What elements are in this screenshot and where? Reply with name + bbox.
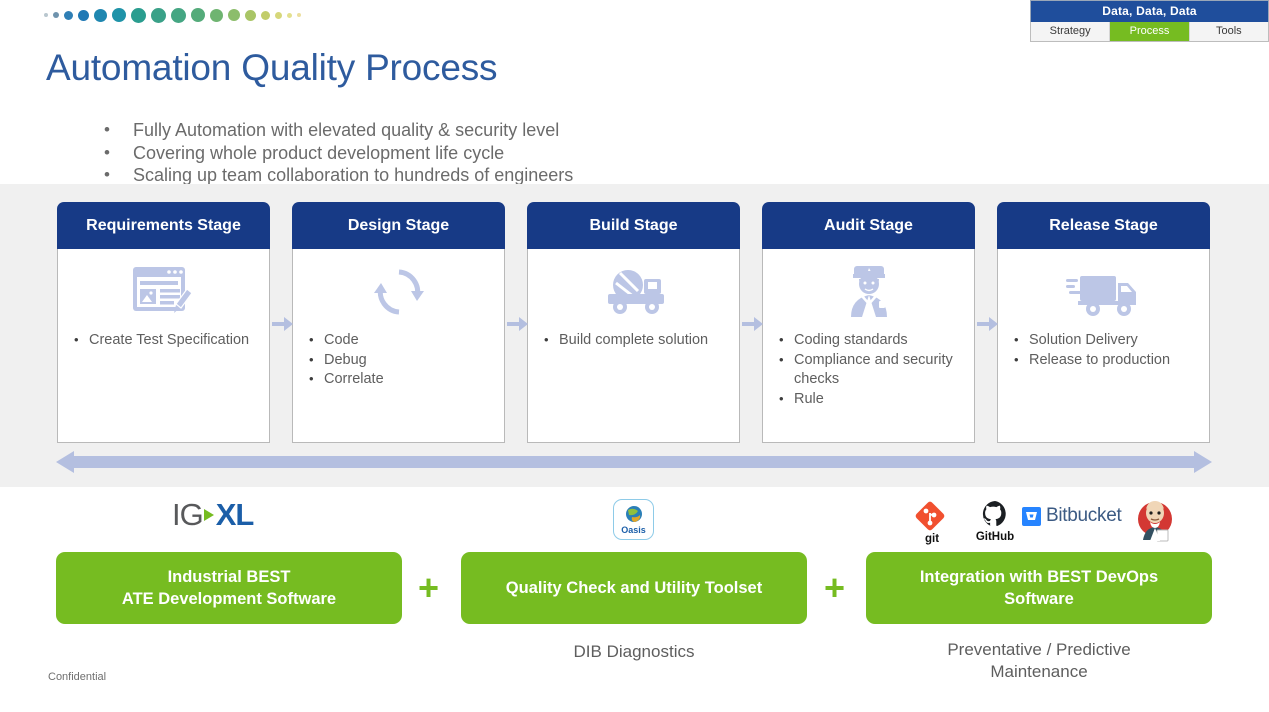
stage-card-body: Build complete solution xyxy=(527,249,740,443)
stage-card-items: Coding standards Compliance and security… xyxy=(763,331,974,409)
stage-card-audit[interactable]: Audit Stage Coding standards Compliance … xyxy=(762,202,975,443)
offering-box-line1: Integration with BEST DevOps xyxy=(920,566,1158,588)
stage-card-item: Build complete solution xyxy=(542,331,731,351)
stage-card-item: Debug xyxy=(307,351,496,371)
decorative-dot xyxy=(44,13,48,17)
stage-card-title: Release Stage xyxy=(997,202,1210,249)
bitbucket-icon xyxy=(1022,507,1041,526)
header-bullet-list: Fully Automation with elevated quality &… xyxy=(58,120,778,188)
stage-card-item: Rule xyxy=(777,390,966,410)
decorative-dot xyxy=(64,11,73,20)
offering-box-line2: ATE Development Software xyxy=(122,588,336,610)
decorative-dot xyxy=(171,8,186,23)
stage-card-item: Release to production xyxy=(1012,351,1201,371)
stage-card-body: Coding standards Compliance and security… xyxy=(762,249,975,443)
stage-card-title: Design Stage xyxy=(292,202,505,249)
bitbucket-logo: Bitbucket xyxy=(1022,505,1121,527)
delivery-truck-icon xyxy=(998,249,1209,327)
tab-tools[interactable]: Tools xyxy=(1190,22,1268,41)
stage-card-items: Solution Delivery Release to production xyxy=(998,331,1209,370)
oasis-logo-label: Oasis xyxy=(621,526,646,535)
stage-card-build[interactable]: Build Stage Build complete solution xyxy=(527,202,740,443)
decorative-dot xyxy=(228,9,240,21)
offering-box-industrial-best[interactable]: Industrial BEST ATE Development Software xyxy=(56,552,402,624)
stage-card-item: Code xyxy=(307,331,496,351)
stage-connector-arrow-icon xyxy=(742,316,764,332)
confidential-label: Confidential xyxy=(48,671,106,683)
tab-process[interactable]: Process xyxy=(1110,22,1189,41)
stage-connector-arrow-icon xyxy=(507,316,529,332)
decorative-dot xyxy=(78,10,89,21)
stage-card-title: Build Stage xyxy=(527,202,740,249)
decorative-dot xyxy=(131,8,146,23)
git-logo: git xyxy=(910,500,954,545)
document-edit-icon xyxy=(58,249,269,327)
refresh-cycle-icon xyxy=(293,249,504,327)
stage-card-requirements[interactable]: Requirements Stage Create Test Specifica… xyxy=(57,202,270,443)
decorative-dot xyxy=(261,11,270,20)
nav-tabs: Strategy Process Tools xyxy=(1030,22,1269,42)
top-nav-widget: Data, Data, Data Strategy Process Tools xyxy=(1030,0,1269,42)
decorative-dots-strip xyxy=(44,6,306,24)
cement-mixer-truck-icon xyxy=(528,249,739,327)
stage-card-items: Build complete solution xyxy=(528,331,739,351)
stage-card-title: Audit Stage xyxy=(762,202,975,249)
stage-card-item: Correlate xyxy=(307,370,496,390)
bidirectional-flow-arrow xyxy=(56,450,1212,474)
decorative-dot xyxy=(53,12,59,18)
offering-caption-dib: DIB Diagnostics xyxy=(461,641,807,663)
github-icon xyxy=(981,500,1009,528)
igxl-logo-xl: XL xyxy=(216,497,254,532)
offering-box-line1: Quality Check and Utility Toolset xyxy=(506,577,762,599)
offering-caption-line1: Preventative / Predictive xyxy=(866,639,1212,661)
igxl-logo-ig: IG xyxy=(172,497,203,532)
github-logo-label: GitHub xyxy=(972,531,1018,543)
stage-card-items: Code Debug Correlate xyxy=(293,331,504,390)
offering-box-devops-integration[interactable]: Integration with BEST DevOps Software xyxy=(866,552,1212,624)
jenkins-logo xyxy=(1133,498,1177,547)
page-title: Automation Quality Process xyxy=(46,47,497,89)
decorative-dot xyxy=(210,9,223,22)
stage-card-body: Create Test Specification xyxy=(57,249,270,443)
github-logo: GitHub xyxy=(972,500,1018,543)
decorative-dot xyxy=(245,10,256,21)
decorative-dot xyxy=(297,13,301,17)
header-bullet: Fully Automation with elevated quality &… xyxy=(98,120,778,142)
plus-separator-1: + xyxy=(418,570,439,606)
decorative-dot xyxy=(287,13,292,18)
stage-card-release[interactable]: Release Stage Solution Delivery Release … xyxy=(997,202,1210,443)
stage-connector-arrow-icon xyxy=(272,316,294,332)
nav-title: Data, Data, Data xyxy=(1030,0,1269,22)
stage-card-item: Solution Delivery xyxy=(1012,331,1201,351)
oasis-logo: Oasis xyxy=(613,499,654,540)
stage-card-title: Requirements Stage xyxy=(57,202,270,249)
stage-card-body: Solution Delivery Release to production xyxy=(997,249,1210,443)
offering-caption-line1: DIB Diagnostics xyxy=(461,641,807,663)
git-logo-label: git xyxy=(910,533,954,545)
jenkins-butler-icon xyxy=(1133,498,1177,542)
offering-box-quality-check[interactable]: Quality Check and Utility Toolset xyxy=(461,552,807,624)
offering-box-line1: Industrial BEST xyxy=(122,566,336,588)
bitbucket-logo-label: Bitbucket xyxy=(1046,505,1121,527)
header-bullet: Covering whole product development life … xyxy=(98,143,778,165)
offering-caption-line2: Maintenance xyxy=(866,661,1212,683)
stage-card-items: Create Test Specification xyxy=(58,331,269,351)
decorative-dot xyxy=(151,8,166,23)
igxl-logo: IGXL xyxy=(172,497,253,533)
stage-card-item: Coding standards xyxy=(777,331,966,351)
decorative-dot xyxy=(275,12,282,19)
stage-card-item: Compliance and security checks xyxy=(777,351,966,390)
decorative-dot xyxy=(112,8,126,22)
stage-connector-arrow-icon xyxy=(977,316,999,332)
git-icon xyxy=(914,500,950,534)
offering-caption-maintenance: Preventative / Predictive Maintenance xyxy=(866,639,1212,683)
tab-strategy[interactable]: Strategy xyxy=(1031,22,1110,41)
offering-box-line2: Software xyxy=(920,588,1158,610)
decorative-dot xyxy=(191,8,205,22)
igxl-logo-chevron-icon xyxy=(203,503,216,527)
plus-separator-2: + xyxy=(824,570,845,606)
police-officer-icon xyxy=(763,249,974,327)
stage-card-design[interactable]: Design Stage Code Debug Correlate xyxy=(292,202,505,443)
decorative-dot xyxy=(94,9,107,22)
stage-card-body: Code Debug Correlate xyxy=(292,249,505,443)
globe-icon xyxy=(623,505,645,525)
stage-card-item: Create Test Specification xyxy=(72,331,261,351)
